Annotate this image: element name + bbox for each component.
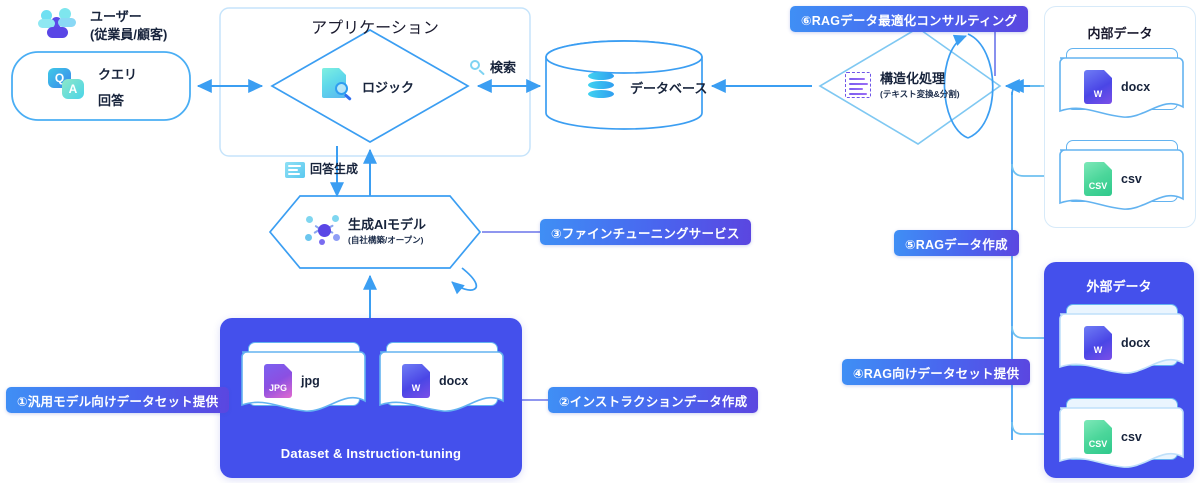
csv-file-label: csv: [1121, 430, 1142, 444]
internal-file-stack-csv[interactable]: CSV csv: [1058, 140, 1184, 214]
docx-file-icon: W: [1084, 326, 1112, 360]
ai-model-label: 生成AIモデル: [348, 216, 426, 234]
diagram-canvas: ユーザー (従業員/顧客) Q A クエリ 回答 アプリケーション ロジック 検…: [0, 0, 1200, 483]
users-label-line1: ユーザー: [90, 8, 167, 26]
docx-file-label: docx: [1121, 80, 1150, 94]
jpg-file-icon: JPG: [264, 364, 292, 398]
dataset-file-stack-jpg[interactable]: JPG jpg: [240, 342, 366, 416]
docx-file-label: docx: [439, 374, 468, 388]
search-label: 検索: [490, 59, 516, 77]
database-label: データベース: [630, 80, 707, 98]
service-badge-6[interactable]: ⑥RAGデータ最適化コンサルティング: [790, 6, 1028, 32]
docx-file-label: docx: [1121, 336, 1150, 350]
users-label: ユーザー (従業員/顧客): [90, 8, 167, 43]
qa-bubble-icon: Q A: [48, 68, 84, 100]
source-trunk-elbow: [1012, 86, 1026, 95]
users-label-line2: (従業員/顧客): [90, 26, 167, 44]
structuring-sublabel: (テキスト変換&分割): [880, 88, 960, 100]
query-node-label: クエリ 回答: [98, 66, 137, 109]
dataset-file-stack-docx[interactable]: W docx: [378, 342, 504, 416]
service-badge-1[interactable]: ①汎用モデル向けデータセット提供: [6, 387, 229, 413]
csv-file-icon: CSV: [1084, 162, 1112, 196]
users-icon: [38, 6, 78, 40]
csv-file-icon: CSV: [1084, 420, 1112, 454]
answer-generation-label: 回答生成: [310, 161, 358, 177]
external-file-stack-csv[interactable]: CSV csv: [1058, 398, 1184, 472]
ai-model-self-loop: [452, 268, 476, 290]
structuring-icon: [845, 72, 871, 98]
service-badge-2[interactable]: ②インストラクションデータ作成: [548, 387, 758, 413]
query-label-line1: クエリ: [98, 66, 137, 84]
external-file-stack-docx[interactable]: W docx: [1058, 304, 1184, 378]
internal-file-stack-docx[interactable]: W docx: [1058, 48, 1184, 122]
document-search-icon: [322, 68, 352, 102]
internal-data-title: 内部データ: [1045, 23, 1195, 42]
jpg-file-label: jpg: [301, 374, 320, 388]
csv-file-label: csv: [1121, 172, 1142, 186]
search-icon: [470, 60, 486, 76]
database-cylinder-top: [546, 41, 702, 73]
logic-label: ロジック: [362, 79, 414, 97]
docx-file-icon: W: [1084, 70, 1112, 104]
ai-model-sublabel: (自社構築/オープン): [348, 234, 426, 246]
structuring-loop-right: [968, 34, 993, 138]
dataset-panel-title: Dataset & Instruction-tuning: [220, 446, 522, 461]
application-title: アプリケーション: [220, 14, 530, 38]
service-badge-4[interactable]: ④RAG向けデータセット提供: [842, 359, 1030, 385]
structuring-label: 構造化処理: [880, 70, 960, 88]
neural-network-icon: [305, 214, 341, 246]
docx-file-icon: W: [402, 364, 430, 398]
service-badge-5[interactable]: ⑤RAGデータ作成: [894, 230, 1019, 256]
ai-model-label-group: 生成AIモデル (自社構築/オープン): [348, 216, 426, 246]
database-icon: [588, 72, 614, 102]
service-badge-3[interactable]: ③ファインチューニングサービス: [540, 219, 751, 245]
structuring-label-group: 構造化処理 (テキスト変換&分割): [880, 70, 960, 100]
external-data-title: 外部データ: [1044, 276, 1194, 295]
query-label-line2: 回答: [98, 92, 137, 110]
answer-generation-icon: [285, 162, 305, 178]
